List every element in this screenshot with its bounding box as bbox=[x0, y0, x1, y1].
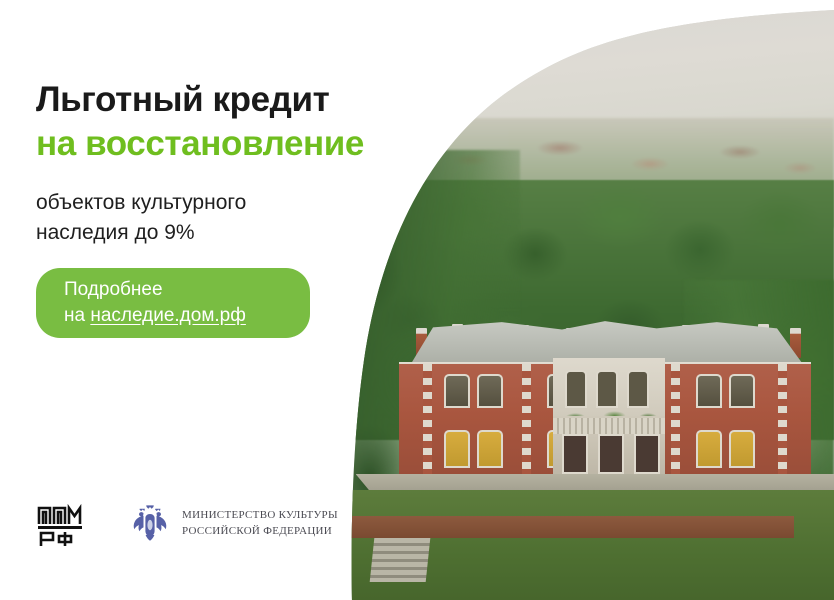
mansion-building bbox=[390, 318, 820, 518]
ministry-of-culture-text: МИНИСТЕРСТВО КУЛЬТУРЫ РОССИЙСКОЙ ФЕДЕРАЦ… bbox=[182, 508, 338, 540]
arched-window bbox=[565, 370, 587, 408]
window bbox=[729, 374, 755, 408]
photo-canvas bbox=[330, 0, 834, 600]
boarded-window bbox=[729, 430, 755, 468]
page-title: Льготный кредит на восстановление bbox=[36, 78, 366, 166]
entrance-door bbox=[562, 434, 588, 474]
retaining-wall bbox=[340, 516, 794, 538]
subtitle-line-2: наследия до 9% bbox=[36, 221, 195, 244]
cta-line-2: на наследие.дом.рф bbox=[64, 303, 310, 329]
double-headed-eagle-icon bbox=[130, 504, 170, 544]
entrance-door bbox=[634, 434, 660, 474]
subtitle-line-1: объектов культурного bbox=[36, 191, 246, 214]
logo-divider-bar bbox=[38, 526, 82, 529]
boarded-window bbox=[444, 430, 470, 468]
quoin bbox=[671, 364, 680, 476]
promo-banner: Льготный кредит на восстановление объект… bbox=[0, 0, 834, 600]
window bbox=[444, 374, 470, 408]
eagle-shield bbox=[147, 520, 152, 530]
dom-rf-logo-icon bbox=[36, 500, 88, 548]
dom-rf-logo bbox=[36, 500, 88, 548]
logo-row: МИНИСТЕРСТВО КУЛЬТУРЫ РОССИЙСКОЙ ФЕДЕРАЦ… bbox=[36, 500, 338, 548]
quoin bbox=[778, 364, 787, 476]
quoin bbox=[522, 364, 531, 476]
more-details-button[interactable]: Подробнее на наследие.дом.рф bbox=[36, 268, 310, 338]
quoin bbox=[423, 364, 432, 476]
entrance-door bbox=[598, 434, 624, 474]
boarded-window bbox=[477, 430, 503, 468]
ministry-line-2: РОССИЙСКОЙ ФЕДЕРАЦИИ bbox=[182, 524, 338, 540]
window bbox=[696, 374, 722, 408]
stone-stairway bbox=[370, 538, 431, 582]
ministry-of-culture-logo: МИНИСТЕРСТВО КУЛЬТУРЫ РОССИЙСКОЙ ФЕДЕРАЦ… bbox=[130, 504, 338, 544]
ministry-line-1: МИНИСТЕРСТВО КУЛЬТУРЫ bbox=[182, 508, 338, 524]
arched-window bbox=[596, 370, 618, 408]
headline-line-2: на восстановление bbox=[36, 122, 366, 166]
boarded-window bbox=[696, 430, 722, 468]
arched-window bbox=[627, 370, 649, 408]
window bbox=[477, 374, 503, 408]
lawn bbox=[330, 490, 834, 600]
cta-url-link[interactable]: наследие.дом.рф bbox=[90, 305, 246, 326]
heritage-mansion-aerial-photo bbox=[330, 0, 834, 600]
cta-line-1: Подробнее bbox=[64, 277, 310, 303]
content-column: Льготный кредит на восстановление объект… bbox=[36, 0, 336, 600]
balustrade-balcony bbox=[553, 416, 665, 434]
subtitle: объектов культурного наследия до 9% bbox=[36, 188, 336, 248]
headline-line-1: Льготный кредит bbox=[36, 80, 329, 119]
cta-prefix: на bbox=[64, 305, 90, 326]
